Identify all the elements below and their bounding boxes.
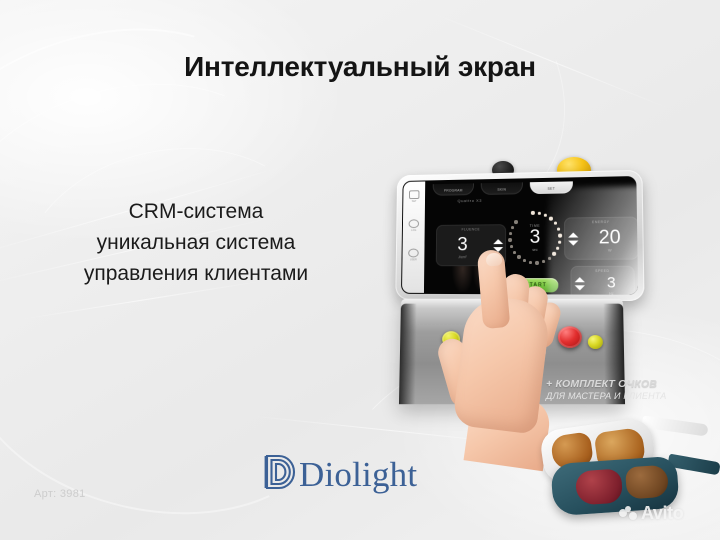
- dial-dot: [531, 211, 534, 214]
- chevron-up-icon[interactable]: [574, 277, 584, 282]
- feature-description: CRM-система уникальная система управлени…: [36, 196, 356, 289]
- brand-logo: Diolight: [262, 452, 417, 492]
- time-unit: sec: [532, 248, 537, 252]
- history-icon[interactable]: LOG: [408, 219, 420, 234]
- dial-dot: [556, 247, 559, 250]
- tab-skin[interactable]: SKIN: [481, 182, 523, 195]
- screen-sidebar: SET LOG USER: [402, 181, 425, 292]
- diolight-wordmark: Diolight: [299, 457, 417, 492]
- copy-line-3: управления клиентами: [36, 258, 356, 289]
- energy-value: 20: [581, 228, 638, 248]
- touch-screen[interactable]: SET LOG USER PROGRAM SKIN SET Quattro X3: [401, 176, 638, 295]
- tab-set[interactable]: SET: [530, 181, 573, 194]
- page-title: Интеллектуальный экран: [0, 51, 720, 83]
- dial-dot: [514, 220, 517, 223]
- dial-dot: [544, 214, 547, 217]
- dial-dot: [517, 255, 520, 258]
- dial-dot: [513, 251, 516, 254]
- fluence-unit: J/cm²: [436, 255, 489, 259]
- speed-label: SPEED: [570, 269, 634, 273]
- body-shadow-left: [399, 304, 417, 405]
- avito-watermark: Avito: [619, 503, 683, 524]
- chevron-up-icon[interactable]: [493, 239, 503, 244]
- indicator-button[interactable]: [442, 331, 460, 347]
- dial-dot: [511, 226, 514, 229]
- dial-dot: [509, 232, 512, 235]
- chevron-down-icon[interactable]: [574, 285, 584, 290]
- speed-arrows[interactable]: [571, 277, 589, 290]
- promo-line-2: ДЛЯ МАСТЕРА И КЛИЕНТА: [546, 391, 716, 401]
- user-icon[interactable]: USER: [408, 249, 420, 264]
- copy-line-2: уникальная система: [36, 227, 356, 258]
- dial-dot: [523, 259, 526, 262]
- energy-unit: W: [582, 248, 639, 252]
- dial-dot: [508, 239, 511, 242]
- dial-dot: [529, 261, 532, 264]
- dial-dot: [549, 217, 552, 220]
- slide-canvas: Интеллектуальный экран CRM-система уника…: [0, 0, 720, 540]
- fluence-arrows[interactable]: [489, 239, 506, 252]
- start-button[interactable]: START: [514, 278, 558, 292]
- dial-dot: [535, 261, 538, 264]
- speed-value: 3: [588, 275, 635, 291]
- fluence-label: FLUENCE: [436, 227, 506, 232]
- dial-dot: [558, 241, 561, 244]
- chevron-down-icon[interactable]: [493, 247, 503, 252]
- dial-dot: [542, 260, 545, 263]
- dial-dot: [554, 222, 557, 225]
- dial-dot: [548, 257, 551, 260]
- body-hatch-panel: [488, 314, 546, 356]
- glasses-promo-text: + КОМПЛЕКТ ОЧКОВ ДЛЯ МАСТЕРА И КЛИЕНТА: [546, 378, 716, 401]
- emergency-stop-button[interactable]: [558, 326, 582, 348]
- safety-glasses-image: [524, 408, 720, 518]
- avito-wordmark: Avito: [641, 503, 683, 524]
- settings-icon[interactable]: SET: [408, 190, 420, 205]
- time-value: 3: [530, 228, 541, 248]
- dial-dot: [557, 228, 560, 231]
- speed-stepper[interactable]: SPEED 3 Hz: [570, 266, 635, 295]
- fluence-value: 3: [436, 235, 489, 254]
- screen-tab-bar: PROGRAM SKIN SET: [433, 181, 573, 195]
- key-switch-button[interactable]: [588, 335, 603, 349]
- dial-dot: [558, 234, 561, 237]
- diolight-d-mark: [262, 452, 298, 492]
- chevron-down-icon[interactable]: [568, 240, 578, 245]
- dial-dot: [510, 245, 513, 248]
- tablet-bezel: SET LOG USER PROGRAM SKIN SET Quattro X3: [395, 170, 644, 301]
- time-dial[interactable]: TIME 3 sec: [505, 207, 565, 268]
- dial-dot: [538, 212, 541, 215]
- energy-arrows[interactable]: [564, 232, 581, 245]
- energy-stepper[interactable]: ENERGY 20 W: [564, 217, 638, 260]
- dial-dot: [553, 252, 556, 255]
- tab-program[interactable]: PROGRAM: [433, 183, 474, 195]
- energy-label: ENERGY: [564, 220, 638, 225]
- dark-glasses-lens-left: [575, 468, 623, 505]
- article-number: Арт: 3981: [34, 488, 86, 500]
- device-model-label: Quattro X3: [457, 198, 482, 203]
- chevron-up-icon[interactable]: [568, 232, 578, 237]
- fluence-stepper[interactable]: FLUENCE 3 J/cm²: [436, 224, 506, 266]
- speed-unit: Hz: [588, 291, 635, 294]
- avito-logo-icon: [619, 506, 637, 521]
- copy-line-1: CRM-система: [36, 196, 356, 227]
- promo-line-1: + КОМПЛЕКТ ОЧКОВ: [546, 378, 716, 390]
